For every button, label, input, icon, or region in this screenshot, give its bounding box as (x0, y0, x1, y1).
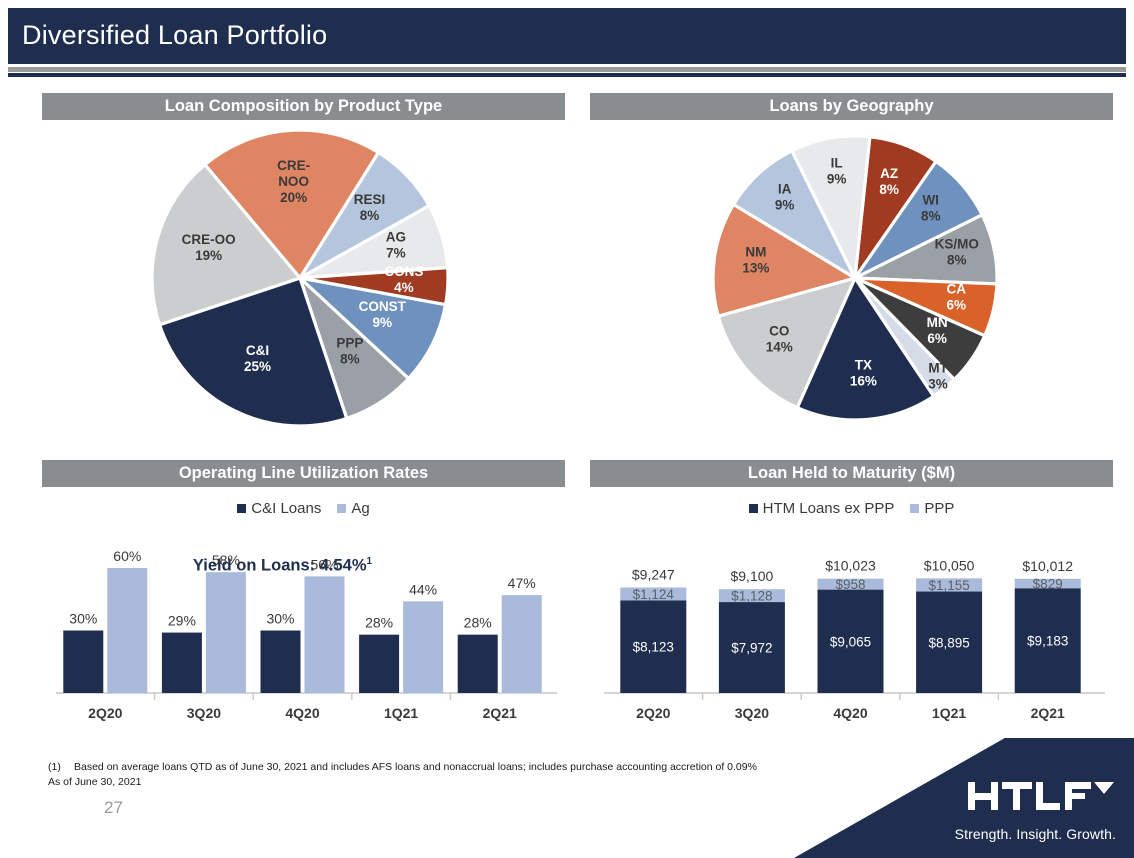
bar-value-label: 60% (113, 548, 141, 564)
bar-3Q20-c-i-loans (162, 633, 202, 693)
svg-text:TX: TX (855, 358, 872, 373)
bar-value-label: 44% (409, 581, 437, 597)
stacked-bar-total-2Q20: $9,247 (632, 567, 675, 583)
svg-text:MT: MT (928, 361, 948, 376)
chart-utilization: 30%60%2Q2029%58%3Q2030%56%4Q2028%44%1Q21… (42, 525, 565, 740)
chart-geography: AZ8%WI8%KS/MO8%CA6%MN6%MT3%TX16%CO14%NM1… (570, 126, 1134, 456)
bar-category-label-3Q20: 3Q20 (187, 705, 221, 721)
pie-label-c-i: C&I25% (244, 343, 271, 374)
svg-text:IA: IA (778, 181, 792, 196)
stacked-bar-value-ppp: $1,128 (731, 589, 772, 604)
bar-category-label-1Q21: 1Q21 (932, 705, 966, 721)
svg-text:9%: 9% (827, 172, 847, 187)
brand-logo-corner: Strength. Insight. Growth. (794, 738, 1134, 858)
bar-4Q20-c-i-loans (261, 631, 301, 694)
pie-label-mt: MT3% (928, 361, 948, 392)
header-divider-navy (8, 73, 1126, 77)
bar-value-label: 56% (310, 556, 338, 572)
bar-category-label-3Q20: 3Q20 (735, 705, 769, 721)
stacked-bar-value-htm: $8,123 (633, 640, 674, 655)
chart-loan-composition: CRE-NOO20%RESI8%AG7%CONS4%CONST9%PPP8%C&… (0, 126, 565, 456)
logo-tagline: Strength. Insight. Growth. (955, 826, 1116, 842)
legend-item-htm-ex-ppp: HTM Loans ex PPP (749, 500, 895, 517)
legend-swatch-ag (337, 504, 346, 513)
bar-value-label: 29% (168, 613, 196, 629)
svg-text:6%: 6% (927, 331, 947, 346)
bar-category-label-2Q20: 2Q20 (636, 705, 670, 721)
header-divider-gray (8, 67, 1126, 72)
bar-value-label: 28% (365, 615, 393, 631)
svg-text:25%: 25% (244, 359, 271, 374)
svg-text:CONST: CONST (359, 299, 407, 314)
svg-text:14%: 14% (766, 339, 793, 354)
bar-1Q21-ag (403, 601, 443, 693)
svg-text:WI: WI (922, 193, 939, 208)
svg-text:KS/MO: KS/MO (935, 236, 979, 251)
stacked-bar-value-htm: $8,895 (928, 635, 969, 650)
legend-label-ag: Ag (351, 500, 369, 517)
pie-loans-by-geography: AZ8%WI8%KS/MO8%CA6%MN6%MT3%TX16%CO14%NM1… (570, 126, 1134, 456)
svg-text:19%: 19% (195, 248, 222, 263)
panel-title-utilization: Operating Line Utilization Rates (42, 460, 565, 487)
legend-swatch-ppp (910, 504, 919, 513)
stacked-bar-value-htm: $7,972 (731, 641, 772, 656)
svg-text:PPP: PPP (336, 335, 363, 350)
stacked-bar-value-htm: $9,065 (830, 634, 871, 649)
legend-utilization: C&I Loans Ag (42, 500, 565, 517)
bar-value-label: 58% (212, 552, 240, 568)
bar-operating-line-utilization: 30%60%2Q2029%58%3Q2030%56%4Q2028%44%1Q21… (42, 525, 565, 740)
panel-title-geography: Loans by Geography (590, 93, 1113, 120)
svg-text:8%: 8% (947, 252, 967, 267)
htlf-logo-icon (966, 776, 1116, 816)
svg-text:6%: 6% (946, 298, 966, 313)
bar-category-label-1Q21: 1Q21 (384, 705, 418, 721)
svg-text:8%: 8% (340, 351, 360, 366)
stacked-bar-value-ppp: $1,124 (633, 587, 675, 602)
legend-item-ci-loans: C&I Loans (237, 500, 321, 517)
svg-text:13%: 13% (742, 260, 769, 275)
svg-text:CONS: CONS (384, 264, 423, 279)
svg-text:CRE-OO: CRE-OO (182, 232, 236, 247)
legend-swatch-htm-ex-ppp (749, 504, 758, 513)
svg-text:9%: 9% (373, 315, 393, 330)
svg-text:NM: NM (745, 244, 766, 259)
svg-text:8%: 8% (879, 182, 899, 197)
svg-text:MN: MN (927, 315, 948, 330)
pie-loan-composition: CRE-NOO20%RESI8%AG7%CONS4%CONST9%PPP8%C&… (0, 126, 565, 436)
page-title: Diversified Loan Portfolio (22, 20, 327, 51)
svg-text:CA: CA (947, 282, 967, 297)
stacked-bar-value-ppp: $829 (1033, 577, 1063, 592)
svg-text:C&I: C&I (246, 343, 269, 358)
pie-label-cre-noo: CRE-NOO20% (277, 158, 310, 205)
svg-text:AG: AG (386, 229, 406, 244)
panel-title-loan-composition: Loan Composition by Product Type (42, 93, 565, 120)
stacked-bar-value-ppp: $1,155 (928, 578, 969, 593)
bar-2Q20-ag (107, 568, 147, 693)
bar-category-label-4Q20: 4Q20 (285, 705, 319, 721)
svg-text:NOO: NOO (278, 174, 309, 189)
bar-category-label-4Q20: 4Q20 (833, 705, 867, 721)
stacked-bar-total-3Q20: $9,100 (730, 568, 773, 584)
pie-label-nm: NM13% (742, 244, 769, 275)
svg-text:RESI: RESI (354, 192, 386, 207)
bar-4Q20-ag (305, 576, 345, 693)
stacked-bar-value-htm: $9,183 (1027, 634, 1068, 649)
pie-label-wi: WI8% (921, 193, 941, 224)
chart-htm: $8,123$1,124$9,2472Q20$7,972$1,128$9,100… (590, 525, 1113, 740)
bar-category-label-2Q20: 2Q20 (88, 705, 122, 721)
bar-2Q21-ag (502, 595, 542, 693)
legend-label-ci-loans: C&I Loans (251, 500, 321, 517)
pie-label-ppp: PPP8% (336, 335, 363, 366)
stacked-bar-total-2Q21: $10,012 (1022, 558, 1073, 574)
bar-category-label-2Q21: 2Q21 (483, 705, 517, 721)
svg-text:CO: CO (769, 323, 789, 338)
stacked-bar-total-1Q21: $10,050 (924, 557, 975, 573)
bar-value-label: 28% (464, 615, 492, 631)
bar-value-label: 30% (69, 611, 97, 627)
svg-text:AZ: AZ (880, 166, 898, 181)
svg-text:8%: 8% (921, 209, 941, 224)
bar-value-label: 47% (508, 575, 536, 591)
legend-htm: HTM Loans ex PPP PPP (590, 500, 1113, 517)
stacked-bar-value-ppp: $958 (835, 577, 865, 592)
legend-item-ag: Ag (337, 500, 369, 517)
legend-item-ppp: PPP (910, 500, 954, 517)
bar-category-label-2Q21: 2Q21 (1031, 705, 1065, 721)
svg-text:3%: 3% (928, 377, 948, 392)
legend-label-htm-ex-ppp: HTM Loans ex PPP (763, 500, 895, 517)
legend-swatch-ci-loans (237, 504, 246, 513)
slide-canvas: Diversified Loan Portfolio Loan Composit… (0, 0, 1134, 858)
pie-label-az: AZ8% (879, 166, 899, 197)
footnote-text-1: Based on average loans QTD as of June 30… (74, 761, 757, 773)
stacked-bar-total-4Q20: $10,023 (825, 558, 876, 574)
svg-text:CRE-: CRE- (277, 158, 310, 173)
svg-text:8%: 8% (360, 208, 380, 223)
svg-text:9%: 9% (775, 197, 795, 212)
bar-3Q20-ag (206, 572, 246, 693)
footnote-marker: (1) (48, 760, 74, 775)
svg-text:4%: 4% (394, 280, 414, 295)
pie-label-co: CO14% (766, 323, 793, 354)
pie-label-ca: CA6% (946, 282, 966, 313)
svg-text:IL: IL (831, 156, 843, 171)
svg-text:20%: 20% (280, 190, 307, 205)
bar-1Q21-c-i-loans (359, 635, 399, 693)
legend-label-ppp: PPP (924, 500, 954, 517)
panel-title-htm: Loan Held to Maturity ($M) (590, 460, 1113, 487)
page-number: 27 (104, 798, 123, 818)
bar-loan-held-to-maturity: $8,123$1,124$9,2472Q20$7,972$1,128$9,100… (590, 525, 1113, 740)
pie-label-mn: MN6% (927, 315, 948, 346)
svg-text:16%: 16% (850, 374, 877, 389)
bar-2Q20-c-i-loans (63, 631, 103, 694)
pie-label-ag: AG7% (386, 229, 406, 260)
bar-2Q21-c-i-loans (458, 635, 498, 693)
svg-text:7%: 7% (386, 245, 406, 260)
bar-value-label: 30% (266, 611, 294, 627)
logo-wordmark (966, 776, 1116, 816)
